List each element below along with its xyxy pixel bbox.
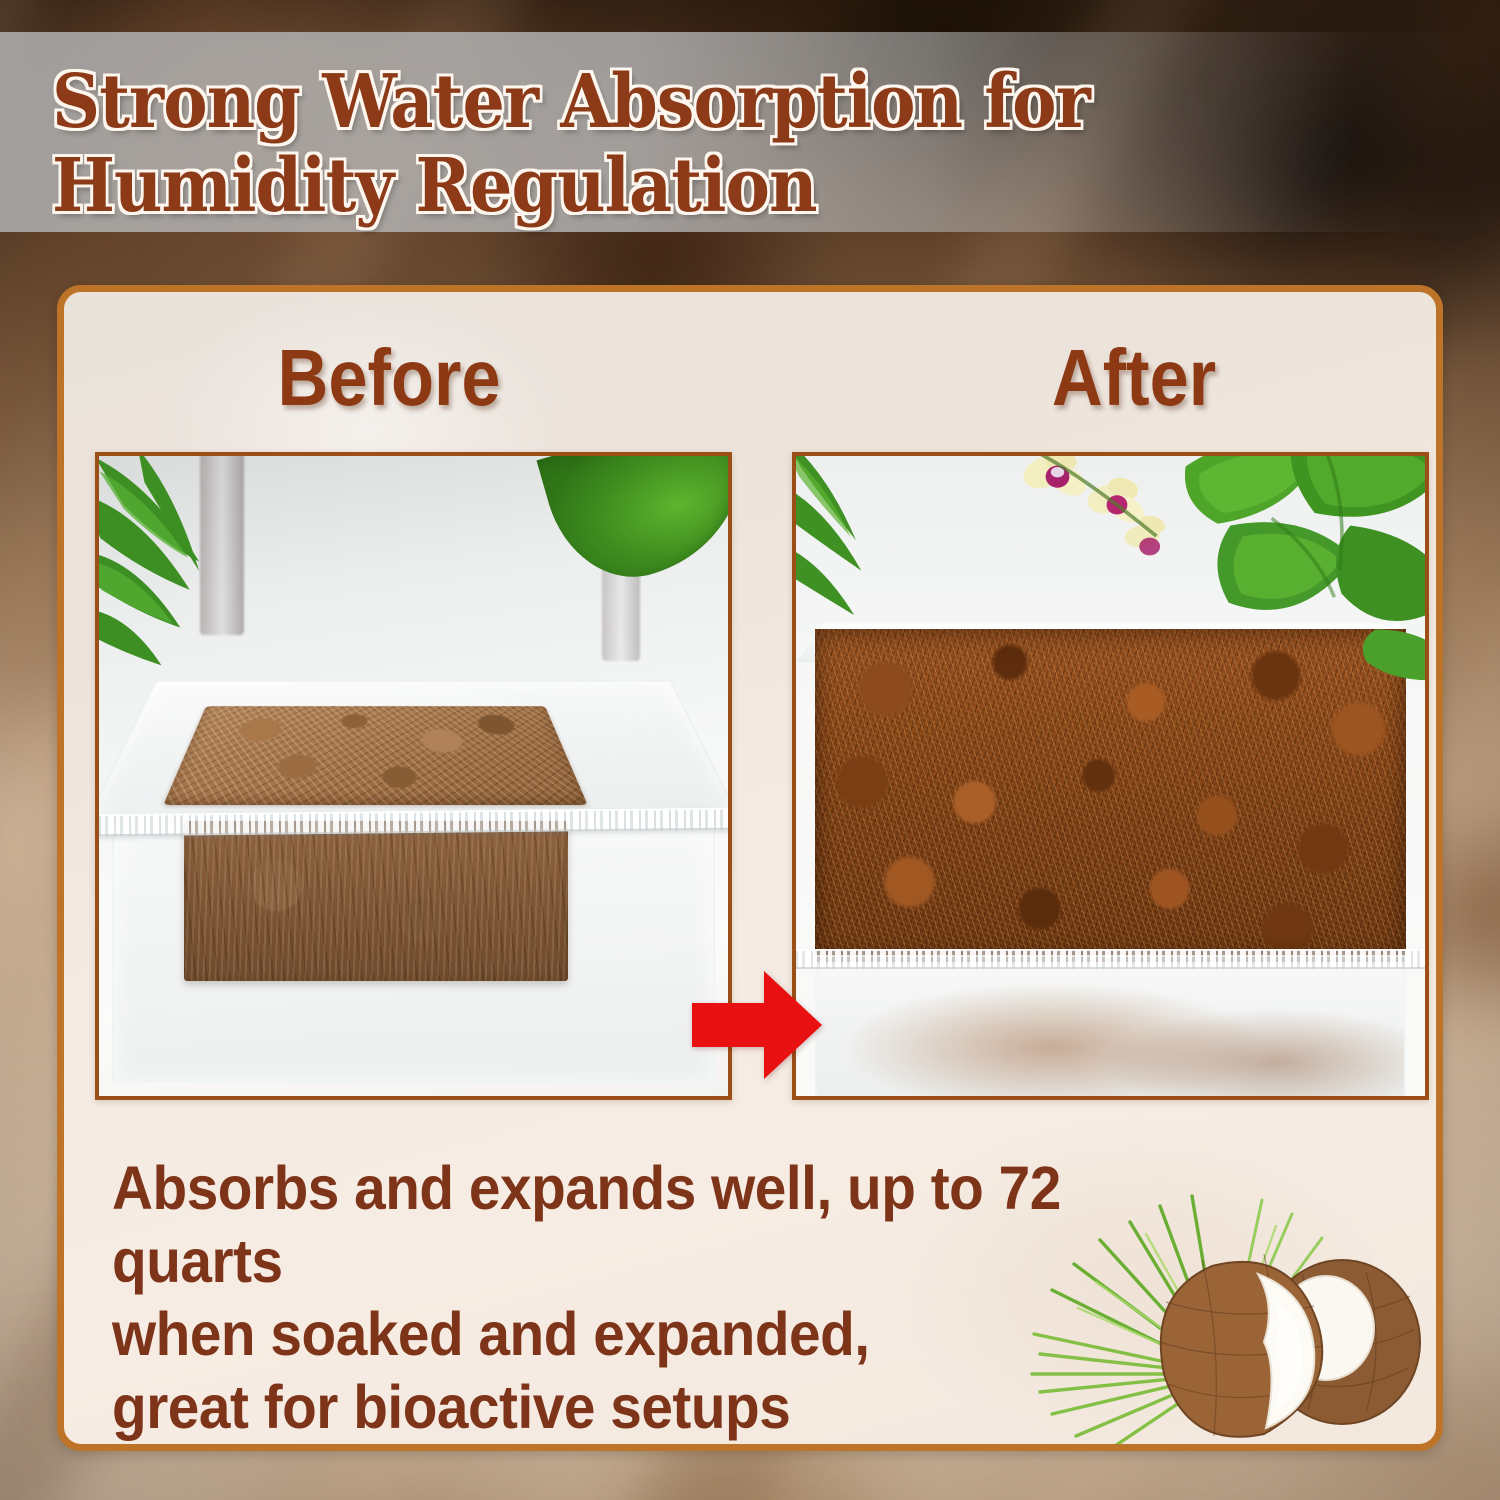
coco-brick-front-face (184, 821, 568, 981)
coconut-icon (1026, 1178, 1443, 1451)
comparison-card: Before After (57, 285, 1443, 1451)
palm-frond-icon (95, 452, 275, 699)
page-title: Strong Water Absorption for Humidity Reg… (52, 60, 1240, 228)
before-photo (95, 452, 732, 1100)
after-label: After (967, 338, 1301, 418)
right-arrow-icon (692, 967, 822, 1083)
acrylic-tank-front (815, 955, 1406, 1100)
header-band: Strong Water Absorption for Humidity Reg… (0, 32, 1500, 232)
tank-edge-strip (792, 949, 1429, 969)
pothos-leaves-icon (1161, 452, 1429, 686)
orchid-flower-icon (1004, 452, 1168, 590)
after-scene (796, 456, 1425, 1096)
palm-frond-icon (792, 452, 903, 642)
before-label: Before (222, 338, 556, 418)
coco-brick-top-face (163, 706, 588, 805)
after-photo (792, 452, 1429, 1100)
before-scene (99, 456, 728, 1096)
